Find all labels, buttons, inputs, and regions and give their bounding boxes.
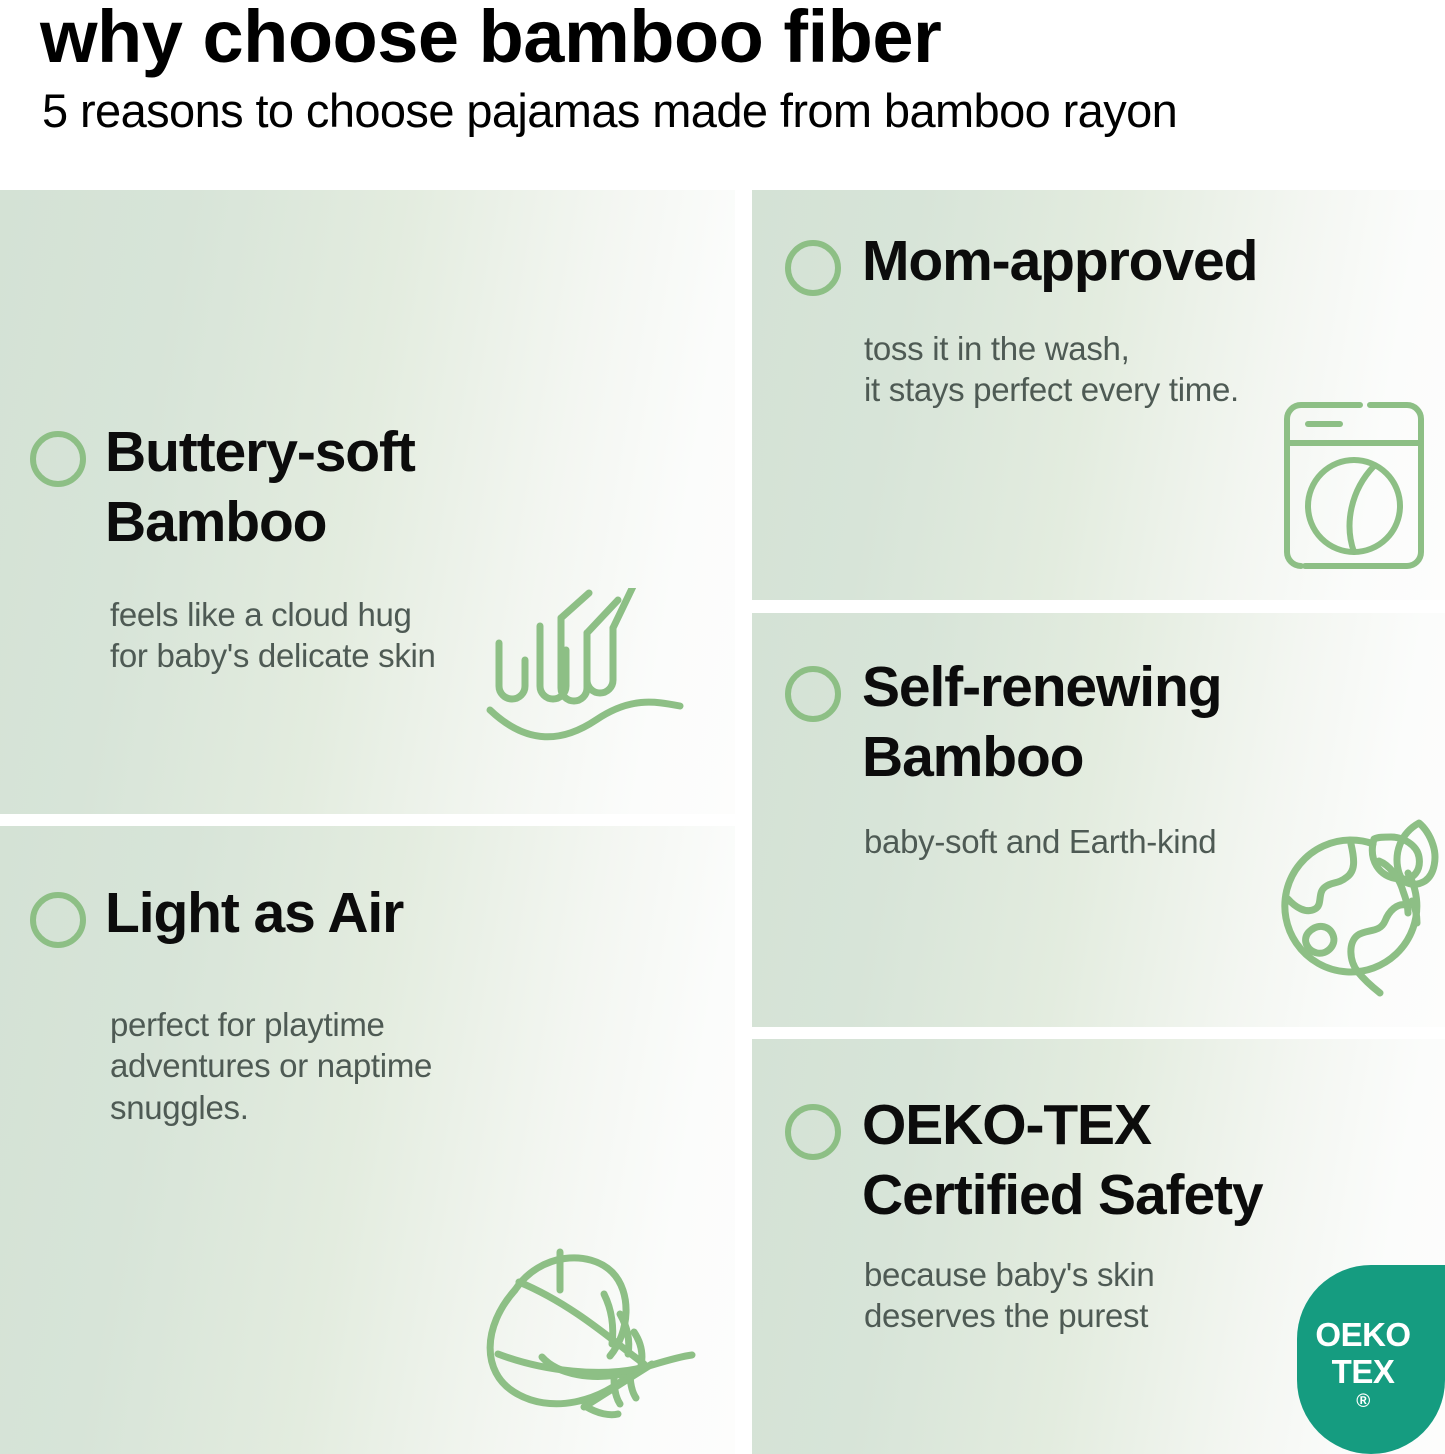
circle-outline-icon (785, 1104, 841, 1160)
card-body-text: toss it in the wash, it stays perfect ev… (864, 328, 1239, 411)
badge-label: OEKO TEX® (1297, 1317, 1429, 1412)
feather-icon (462, 1232, 752, 1454)
badge-line-1: OEKO (1297, 1317, 1429, 1354)
badge-line-2: TEX® (1297, 1354, 1429, 1412)
card-heading: Buttery-soft Bamboo (105, 418, 415, 557)
card-heading: Mom-approved (862, 227, 1257, 297)
page-subtitle: 5 reasons to choose pajamas made from ba… (42, 86, 1177, 135)
card-body-text: perfect for playtime adventures or napti… (110, 1004, 432, 1128)
card-heading: Light as Air (105, 879, 403, 949)
registered-mark: ® (1297, 1391, 1429, 1412)
page-header: why choose bamboo fiber 5 reasons to cho… (0, 0, 1445, 170)
card-body-text: because baby's skin deserves the purest (864, 1254, 1154, 1337)
card-heading: Self-renewing Bamboo (862, 653, 1221, 792)
card-heading: OEKO-TEX Certified Safety (862, 1091, 1263, 1230)
washing-machine-icon (1278, 398, 1430, 573)
page-title: why choose bamboo fiber (40, 0, 941, 76)
circle-outline-icon (785, 240, 841, 296)
oeko-tex-badge-icon: OEKO TEX® (1297, 1265, 1445, 1454)
hand-soft-touch-icon (468, 588, 728, 788)
card-body-text: feels like a cloud hug for baby's delica… (110, 594, 436, 677)
circle-outline-icon (785, 666, 841, 722)
circle-outline-icon (30, 892, 86, 948)
circle-outline-icon (30, 431, 86, 487)
badge-line-2-text: TEX (1297, 1354, 1429, 1391)
card-body-text: baby-soft and Earth-kind (864, 821, 1216, 862)
globe-leaf-icon (1275, 815, 1445, 1010)
